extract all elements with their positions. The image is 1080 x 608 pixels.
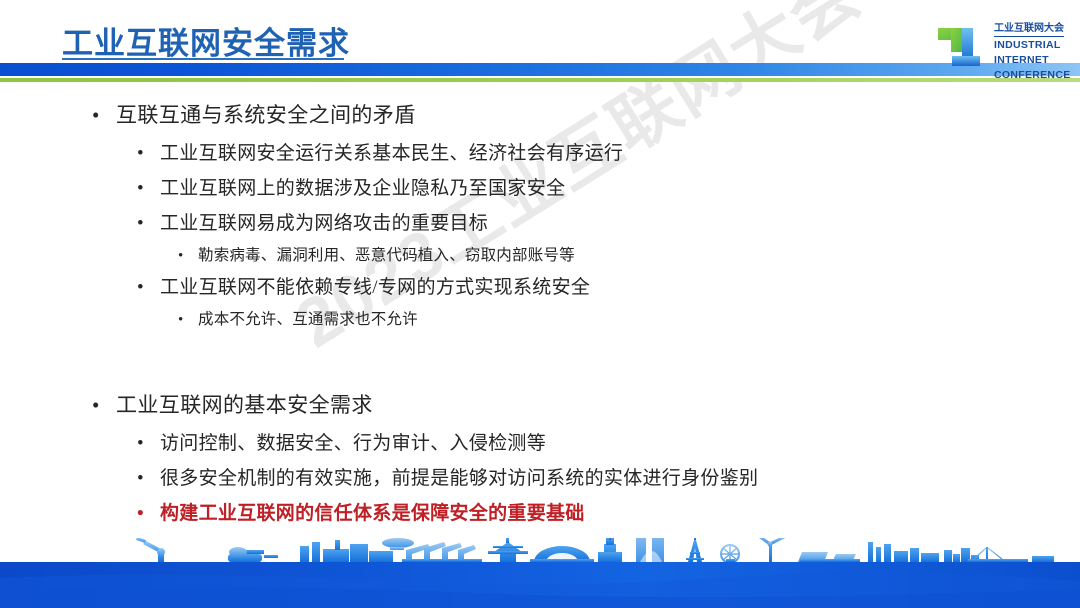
bullet-item-2-2: •很多安全机制的有效实施，前提是能够对访问系统的实体进行身份鉴别 bbox=[0, 463, 1080, 494]
bullet-item-1-1: •工业互联网安全运行关系基本民生、经济社会有序运行 bbox=[0, 138, 1080, 169]
logo-en-line2: INTERNET bbox=[994, 54, 1064, 67]
bullet-marker: • bbox=[137, 138, 160, 169]
bullet-item-1-6: •成本不允许、互通需求也不允许 bbox=[0, 307, 1080, 333]
bullet-text: 成本不允许、互通需求也不允许 bbox=[198, 307, 418, 333]
bullet-item-2-3: •构建工业互联网的信任体系是保障安全的重要基础 bbox=[0, 498, 1080, 529]
logo-text-block: 工业互联网大会 INDUSTRIAL INTERNET CONFERENCE bbox=[994, 18, 1064, 82]
bullet-text: 工业互联网易成为网络攻击的重要目标 bbox=[160, 208, 488, 239]
section-heading-2: •工业互联网的基本安全需求 bbox=[0, 388, 1080, 422]
bullet-item-1-2: •工业互联网上的数据涉及企业隐私乃至国家安全 bbox=[0, 173, 1080, 204]
bullet-text: 工业互联网安全运行关系基本民生、经济社会有序运行 bbox=[160, 138, 623, 169]
bullet-item-2-1: •访问控制、数据安全、行为审计、入侵检测等 bbox=[0, 428, 1080, 459]
slide-body: •互联互通与系统安全之间的矛盾•工业互联网安全运行关系基本民生、经济社会有序运行… bbox=[0, 98, 1080, 533]
bullet-marker: • bbox=[137, 498, 160, 529]
bullet-marker: • bbox=[137, 463, 160, 494]
bullet-text: 访问控制、数据安全、行为审计、入侵检测等 bbox=[160, 428, 546, 459]
city-skyline-icon bbox=[0, 538, 1080, 608]
slide-title: 工业互联网安全需求 bbox=[62, 18, 350, 63]
section-heading-1: •互联互通与系统安全之间的矛盾 bbox=[0, 98, 1080, 132]
bullet-marker: • bbox=[178, 307, 198, 333]
bullet-text: 很多安全机制的有效实施，前提是能够对访问系统的实体进行身份鉴别 bbox=[160, 463, 758, 494]
header-bar-green bbox=[0, 78, 1080, 82]
bullet-marker: • bbox=[137, 208, 160, 239]
bullet-marker: • bbox=[92, 98, 116, 132]
bullet-marker: • bbox=[92, 388, 116, 422]
bullet-text: 互联互通与系统安全之间的矛盾 bbox=[116, 98, 416, 132]
bullet-marker: • bbox=[137, 272, 160, 303]
logo-en-line3: CONFERENCE bbox=[994, 69, 1064, 82]
bullet-item-1-5: •工业互联网不能依赖专线/专网的方式实现系统安全 bbox=[0, 272, 1080, 303]
bullet-text: 勒索病毒、漏洞利用、恶意代码植入、窃取内部账号等 bbox=[198, 243, 575, 269]
bullet-item-1-4: •勒索病毒、漏洞利用、恶意代码植入、窃取内部账号等 bbox=[0, 243, 1080, 269]
bullet-marker: • bbox=[137, 428, 160, 459]
section-spacer bbox=[0, 336, 1080, 388]
presentation-slide: 2023工业互联网大会 工业互联网安全需求 bbox=[0, 0, 1080, 608]
logo-mark-icon bbox=[938, 20, 990, 72]
footer-skyline-band bbox=[0, 538, 1080, 608]
header-bar-blue bbox=[0, 63, 1080, 76]
bullet-marker: • bbox=[137, 173, 160, 204]
bullet-text: 工业互联网的基本安全需求 bbox=[116, 388, 373, 422]
bullet-marker: • bbox=[178, 243, 198, 269]
bullet-text: 构建工业互联网的信任体系是保障安全的重要基础 bbox=[160, 498, 585, 529]
title-underline bbox=[62, 58, 344, 60]
bullet-text: 工业互联网上的数据涉及企业隐私乃至国家安全 bbox=[160, 173, 565, 204]
bullet-item-1-3: •工业互联网易成为网络攻击的重要目标 bbox=[0, 208, 1080, 239]
logo-cn-name: 工业互联网大会 bbox=[994, 23, 1064, 37]
bullet-text: 工业互联网不能依赖专线/专网的方式实现系统安全 bbox=[160, 272, 590, 303]
conference-logo: 工业互联网大会 INDUSTRIAL INTERNET CONFERENCE bbox=[938, 16, 1063, 78]
logo-en-line1: INDUSTRIAL bbox=[994, 39, 1064, 52]
